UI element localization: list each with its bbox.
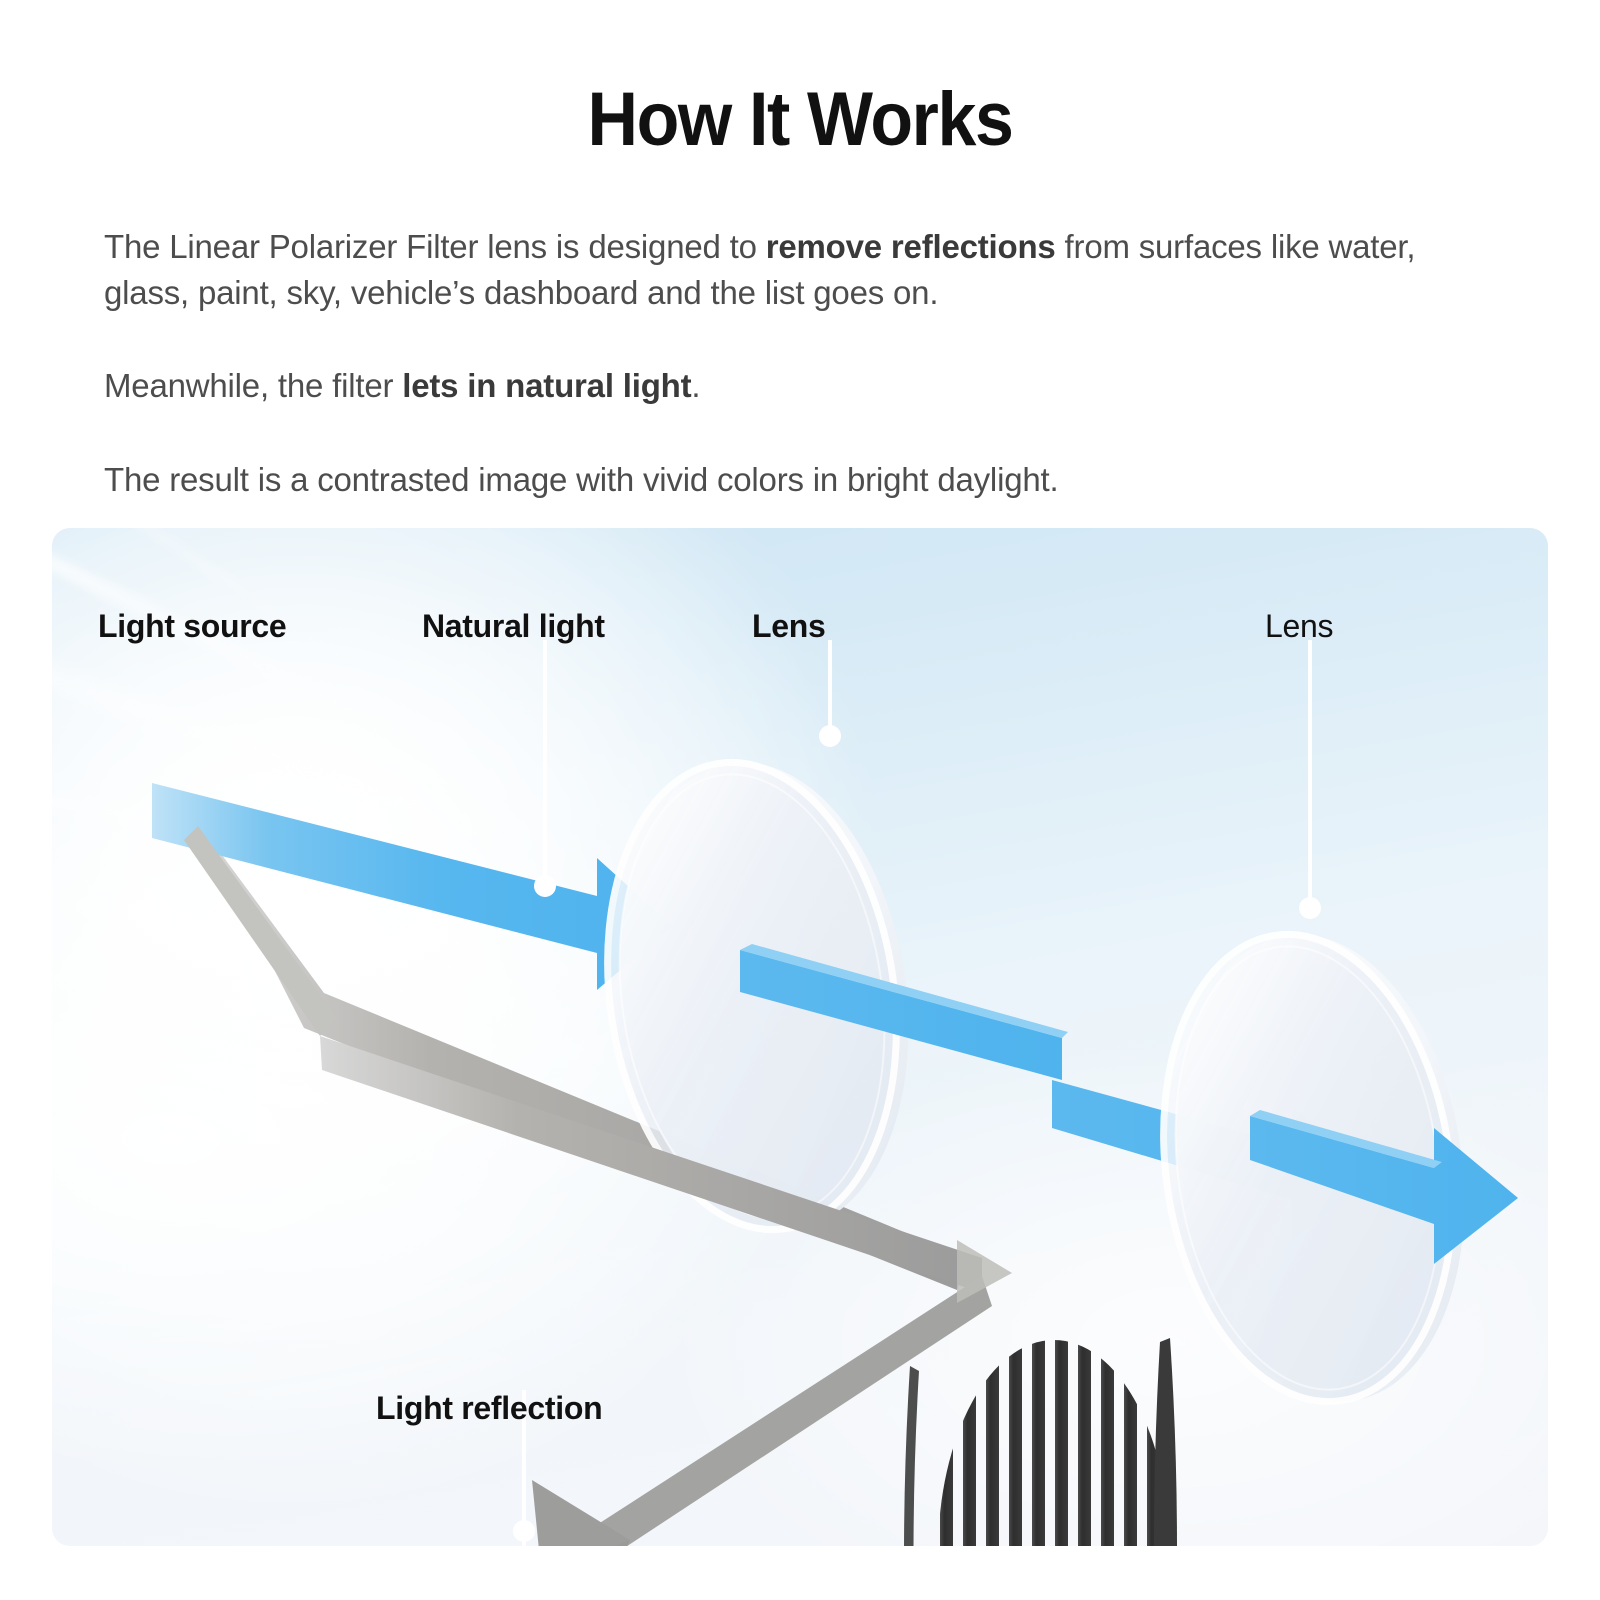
paragraph-3: The result is a contrasted image with vi…	[104, 457, 1500, 503]
emphasis-text: lets in natural light	[402, 367, 691, 404]
body-text: Meanwhile, the filter	[104, 367, 402, 404]
leader-dot-lens-left	[819, 725, 841, 747]
leader-dot-lens-right	[1299, 897, 1321, 919]
paragraph-2: Meanwhile, the filter lets in natural li…	[104, 363, 1500, 409]
leader-dot-natural-light	[534, 875, 556, 897]
body-text: The result is a contrasted image with vi…	[104, 461, 1058, 498]
label-natural-light: Natural light	[422, 608, 605, 645]
how-it-works-illustration: Light source Natural light Lens Lens Lig…	[52, 528, 1548, 1546]
label-light-source: Light source	[98, 608, 286, 645]
paragraph-1: The Linear Polarizer Filter lens is desi…	[104, 224, 1500, 315]
body-copy: The Linear Polarizer Filter lens is desi…	[0, 224, 1600, 502]
body-text: .	[691, 367, 700, 404]
body-text: The Linear Polarizer Filter lens is desi…	[104, 228, 766, 265]
label-lens-left: Lens	[752, 608, 826, 645]
emphasis-text: remove reflections	[766, 228, 1056, 265]
label-light-reflection: Light reflection	[376, 1390, 602, 1427]
leader-dot-light-reflection	[513, 1520, 535, 1542]
diagram-canvas	[52, 528, 1548, 1546]
label-lens-right: Lens	[1265, 608, 1333, 645]
page-title: How It Works	[64, 0, 1536, 158]
